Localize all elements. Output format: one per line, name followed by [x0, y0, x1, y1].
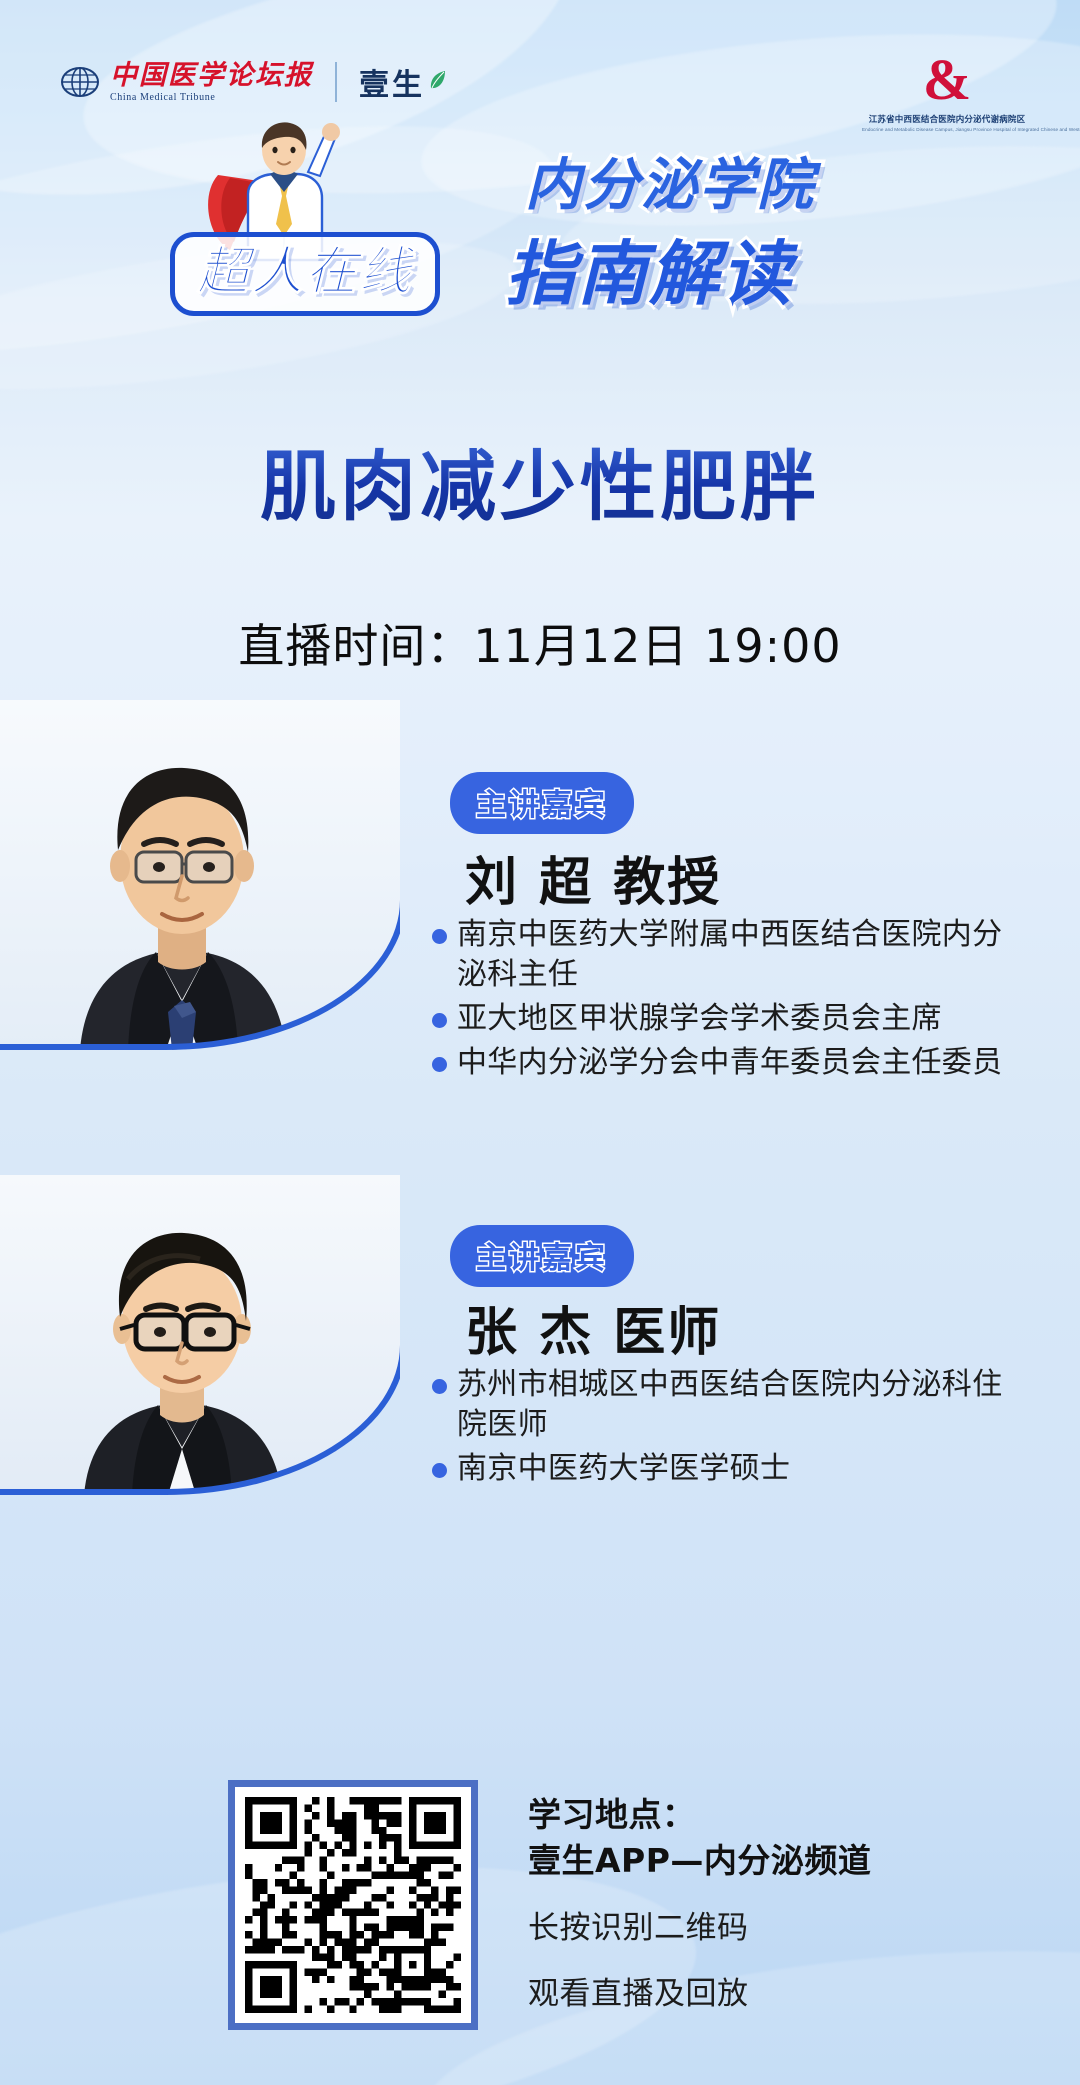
- study-location-value: 壹生APP—内分泌频道: [528, 1838, 1008, 1884]
- speaker-role-label: 主讲嘉宾: [476, 788, 608, 823]
- portrait-illustration: [0, 1175, 400, 1495]
- credential-item: 南京中医药大学医学硕士: [430, 1449, 1030, 1489]
- credential-item: 南京中医药大学附属中西医结合医院内分泌科主任: [430, 915, 1030, 995]
- program-tag: 超人在线: [170, 232, 440, 316]
- leaf-icon: [428, 69, 448, 95]
- ampersand-mark: &: [923, 52, 971, 107]
- webinar-poster: 中国医学论坛报 China Medical Tribune 壹生 & 江苏省中西…: [0, 0, 1080, 2085]
- qr-code-icon[interactable]: [228, 1780, 478, 2030]
- qr-instructions: 学习地点： 壹生APP—内分泌频道 长按识别二维码 观看直播及回放: [528, 1792, 1008, 2016]
- study-location-label: 学习地点：: [528, 1792, 1008, 1838]
- speaker-block: 主讲嘉宾 刘 超 教授 南京中医药大学附属中西医结合医院内分泌科主任 亚大地区甲…: [0, 700, 1080, 1170]
- qr-hint-line2: 观看直播及回放: [528, 1972, 1008, 2016]
- page-title: 肌肉减少性肥胖: [0, 425, 1080, 535]
- speaker-role-badge: 主讲嘉宾: [450, 1225, 634, 1287]
- credential-item: 苏州市相城区中西医结合医院内分泌科住院医师: [430, 1365, 1030, 1445]
- publisher-name-cn: 中国医学论坛报: [110, 62, 313, 89]
- speaker-name: 张 杰 医师: [465, 1290, 721, 1365]
- speaker-photo-frame: [0, 1175, 400, 1495]
- speaker-photo-frame: [0, 700, 400, 1050]
- publisher-name-en: China Medical Tribune: [110, 93, 313, 103]
- qr-hint-line1: 长按识别二维码: [528, 1906, 1008, 1950]
- globe-icon: [60, 62, 100, 102]
- speaker-block: 主讲嘉宾 张 杰 医师 苏州市相城区中西医结合医院内分泌科住院医师 南京中医药大…: [0, 1175, 1080, 1575]
- logo-divider: [335, 62, 337, 102]
- publisher-name-block: 中国医学论坛报 China Medical Tribune: [110, 62, 313, 103]
- speaker-portrait-zhang-jie: [0, 1175, 400, 1495]
- speaker-role-label: 主讲嘉宾: [476, 1241, 608, 1276]
- hero-subtitle-academy: 内分泌学院: [525, 140, 815, 221]
- portrait-illustration: [0, 700, 400, 1050]
- speaker-credentials: 苏州市相城区中西医结合医院内分泌科住院医师 南京中医药大学医学硕士: [430, 1365, 1030, 1493]
- credential-item: 亚大地区甲状腺学会学术委员会主席: [430, 999, 1030, 1039]
- speaker-role-badge: 主讲嘉宾: [450, 772, 634, 834]
- publisher-logo: 中国医学论坛报 China Medical Tribune 壹生: [60, 60, 448, 104]
- program-tag-label: 超人在线: [197, 242, 413, 302]
- qr-code-canvas[interactable]: [245, 1797, 461, 2013]
- live-time: 直播时间：11月12日 19:00: [0, 610, 1080, 676]
- hero-subtitle-guideline: 指南解读: [505, 218, 793, 319]
- speaker-portrait-liu-chao: [0, 700, 400, 1050]
- speaker-name: 刘 超 教授: [465, 840, 721, 915]
- speaker-credentials: 南京中医药大学附属中西医结合医院内分泌科主任 亚大地区甲状腺学会学术委员会主席 …: [430, 915, 1030, 1087]
- sub-brand-block: 壹生: [359, 60, 448, 104]
- qr-section: 学习地点： 壹生APP—内分泌频道 长按识别二维码 观看直播及回放: [0, 1770, 1080, 2050]
- hero-banner: 超人在线 内分泌学院 指南解读: [0, 120, 1080, 370]
- sub-brand-name: 壹生: [359, 60, 425, 104]
- credential-item: 中华内分泌学分会中青年委员会主任委员: [430, 1043, 1030, 1083]
